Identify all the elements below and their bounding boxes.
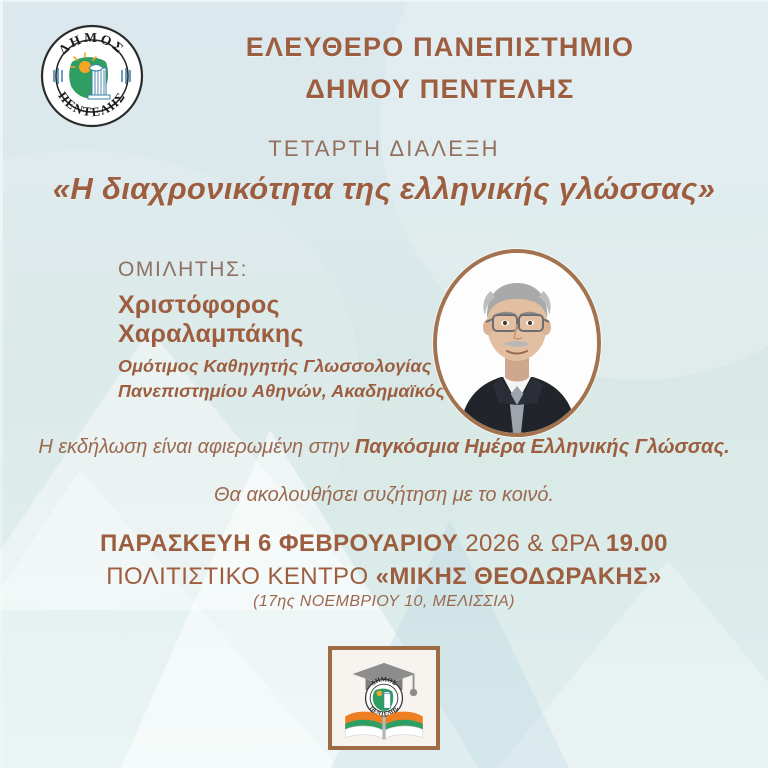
- organization-line-2: ΔΗΜΟΥ ΠΕΝΤΕΛΗΣ: [150, 70, 730, 108]
- event-address: (17ης ΝΟΕΜΒΡΙΟΥ 10, ΜΕΛΙΣΣΙΑ): [0, 593, 768, 611]
- event-time: 19.00: [606, 530, 668, 557]
- free-university-book-graduation-cap-logo-icon: ΔΗΜΟΣ ΠΕΝΤΕΛΗΣ: [328, 646, 440, 750]
- speaker-label: ΟΜΙΛΗΤΗΣ:: [118, 258, 448, 282]
- dedication-note: Η εκδήλωση είναι αφιερωμένη στην Παγκόσμ…: [0, 436, 768, 459]
- lecture-number-label: ΤΕΤΑΡΤΗ ΔΙΑΛΕΞΗ: [0, 136, 768, 162]
- organization-title-block: ΕΛΕΥΘΕΡΟ ΠΑΝΕΠΙΣΤΗΜΙΟ ΔΗΜΟΥ ΠΕΝΤΕΛΗΣ: [150, 28, 730, 108]
- event-day-date: ΠΑΡΑΣΚΕΥΗ 6 ΦΕΒΡΟΥΑΡΙΟΥ: [100, 530, 458, 557]
- penteli-municipality-seal-icon: ΔΗΜΟΣ ΠΕΝΤΕΛΗΣ: [38, 22, 146, 130]
- event-year-time-label: 2026 & ΩΡΑ: [458, 530, 606, 557]
- speaker-block: ΟΜΙΛΗΤΗΣ: Χριστόφορος Χαραλαμπάκης Ομότι…: [118, 258, 448, 402]
- dedication-prefix: Η εκδήλωση είναι αφιερωμένη στην: [38, 436, 355, 458]
- event-venue: ΠΟΛΙΤΙΣΤΙΚΟ ΚΕΝΤΡΟ «ΜΙΚΗΣ ΘΕΟΔΩΡΑΚΗΣ»: [0, 563, 768, 591]
- venue-name: «ΜΙΚΗΣ ΘΕΟΔΩΡΑΚΗΣ»: [376, 563, 662, 590]
- venue-prefix: ΠΟΛΙΤΙΣΤΙΚΟ ΚΕΝΤΡΟ: [106, 563, 375, 590]
- dedication-highlight: Παγκόσμια Ημέρα Ελληνικής Γλώσσας.: [355, 436, 730, 458]
- event-poster: ΔΗΜΟΣ ΠΕΝΤΕΛΗΣ ΕΛΕΥΘΕΡΟ ΠΑΝΕΠΙΣΤΗΜΙΟ ΔΗΜ…: [0, 0, 768, 768]
- organization-line-1: ΕΛΕΥΘΕΡΟ ΠΑΝΕΠΙΣΤΗΜΙΟ: [150, 28, 730, 66]
- event-datetime: ΠΑΡΑΣΚΕΥΗ 6 ΦΕΒΡΟΥΑΡΙΟΥ 2026 & ΩΡΑ 19.00: [0, 530, 768, 558]
- speaker-title-line-2: Πανεπιστημίου Αθηνών, Ακαδημαϊκός: [118, 381, 448, 402]
- speaker-name: Χριστόφορος Χαραλαμπάκης: [118, 291, 448, 349]
- speaker-title-line-1: Ομότιμος Καθηγητής Γλωσσολογίας: [118, 356, 448, 377]
- poster-header: ΔΗΜΟΣ ΠΕΝΤΕΛΗΣ ΕΛΕΥΘΕΡΟ ΠΑΝΕΠΙΣΤΗΜΙΟ ΔΗΜ…: [0, 14, 768, 119]
- speaker-portrait: [433, 249, 601, 437]
- lecture-title: «Η διαχρονικότητα της ελληνικής γλώσσας»: [0, 171, 768, 207]
- discussion-note: Θα ακολουθήσει συζήτηση με το κοινό.: [0, 484, 768, 507]
